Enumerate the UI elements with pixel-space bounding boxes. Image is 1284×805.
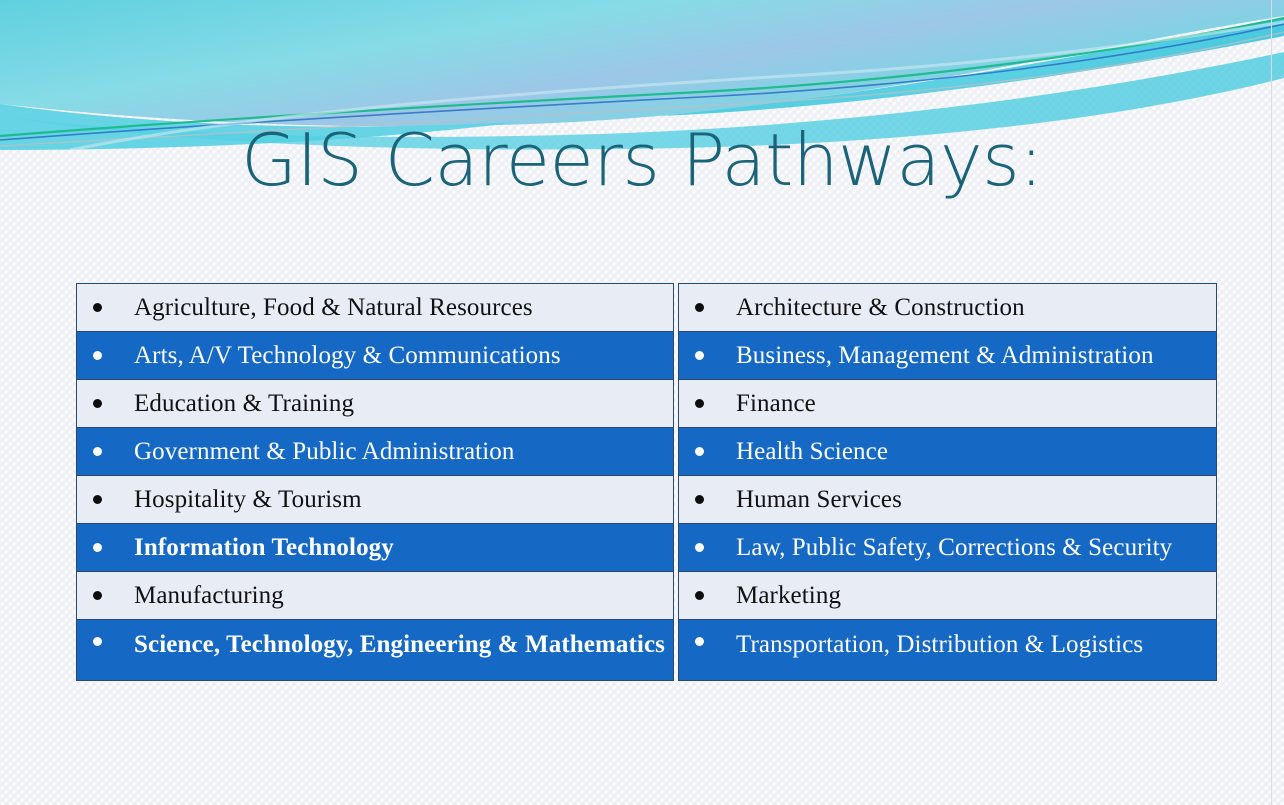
pathway-row[interactable]: Architecture & Construction <box>678 283 1217 331</box>
pathway-label: Government & Public Administration <box>134 435 514 468</box>
bullet-icon <box>695 399 704 408</box>
pathway-row[interactable]: Law, Public Safety, Corrections & Securi… <box>678 523 1217 571</box>
bullet-icon <box>695 447 704 456</box>
pathway-row[interactable]: Human Services <box>678 475 1217 523</box>
pathway-label: Human Services <box>736 483 902 516</box>
pathway-row[interactable]: Health Science <box>678 427 1217 475</box>
pathway-label: Information Technology <box>134 531 394 564</box>
pathway-row[interactable]: Science, Technology, Engineering & Mathe… <box>76 619 674 681</box>
bullet-icon <box>93 303 102 312</box>
pathway-label: Arts, A/V Technology & Communications <box>134 339 561 372</box>
pathway-label: Transportation, Distribution & Logistics <box>736 628 1143 661</box>
pathway-row[interactable]: Information Technology <box>76 523 674 571</box>
pathway-label: Manufacturing <box>134 579 284 612</box>
presentation-slide: GIS Careers Pathways: Agriculture, Food … <box>0 0 1284 805</box>
bullet-icon <box>93 399 102 408</box>
pathway-label: Health Science <box>736 435 888 468</box>
pathways-left-column: Agriculture, Food & Natural Resources Ar… <box>76 283 674 689</box>
pathway-row[interactable]: Government & Public Administration <box>76 427 674 475</box>
pathway-label: Finance <box>736 387 816 420</box>
bullet-icon <box>695 591 704 600</box>
bullet-icon <box>695 351 704 360</box>
bullet-icon <box>695 495 704 504</box>
pathway-row[interactable]: Business, Management & Administration <box>678 331 1217 379</box>
slide-title: GIS Careers Pathways: <box>0 124 1284 196</box>
pathway-label: Architecture & Construction <box>736 291 1025 324</box>
slide-edge-divider <box>1271 0 1272 805</box>
pathway-row[interactable]: Marketing <box>678 571 1217 619</box>
pathway-label: Law, Public Safety, Corrections & Securi… <box>736 531 1172 564</box>
pathway-row[interactable]: Arts, A/V Technology & Communications <box>76 331 674 379</box>
pathway-label: Marketing <box>736 579 841 612</box>
pathway-row[interactable]: Hospitality & Tourism <box>76 475 674 523</box>
pathway-row[interactable]: Education & Training <box>76 379 674 427</box>
bullet-icon <box>695 543 704 552</box>
pathway-row[interactable]: Agriculture, Food & Natural Resources <box>76 283 674 331</box>
pathway-label: Science, Technology, Engineering & Mathe… <box>134 628 665 661</box>
pathway-row[interactable]: Manufacturing <box>76 571 674 619</box>
bullet-icon <box>695 637 704 646</box>
pathway-row[interactable]: Finance <box>678 379 1217 427</box>
pathway-row[interactable]: Transportation, Distribution & Logistics <box>678 619 1217 681</box>
bullet-icon <box>93 543 102 552</box>
bullet-icon <box>695 303 704 312</box>
bullet-icon <box>93 447 102 456</box>
bullet-icon <box>93 351 102 360</box>
bullet-icon <box>93 637 102 646</box>
pathway-label: Business, Management & Administration <box>736 339 1154 372</box>
pathway-label: Hospitality & Tourism <box>134 483 362 516</box>
pathway-label: Agriculture, Food & Natural Resources <box>134 291 533 324</box>
bullet-icon <box>93 591 102 600</box>
career-pathways-table: Agriculture, Food & Natural Resources Ar… <box>76 283 1217 689</box>
pathways-right-column: Architecture & Construction Business, Ma… <box>678 283 1217 689</box>
bullet-icon <box>93 495 102 504</box>
pathway-label: Education & Training <box>134 387 354 420</box>
